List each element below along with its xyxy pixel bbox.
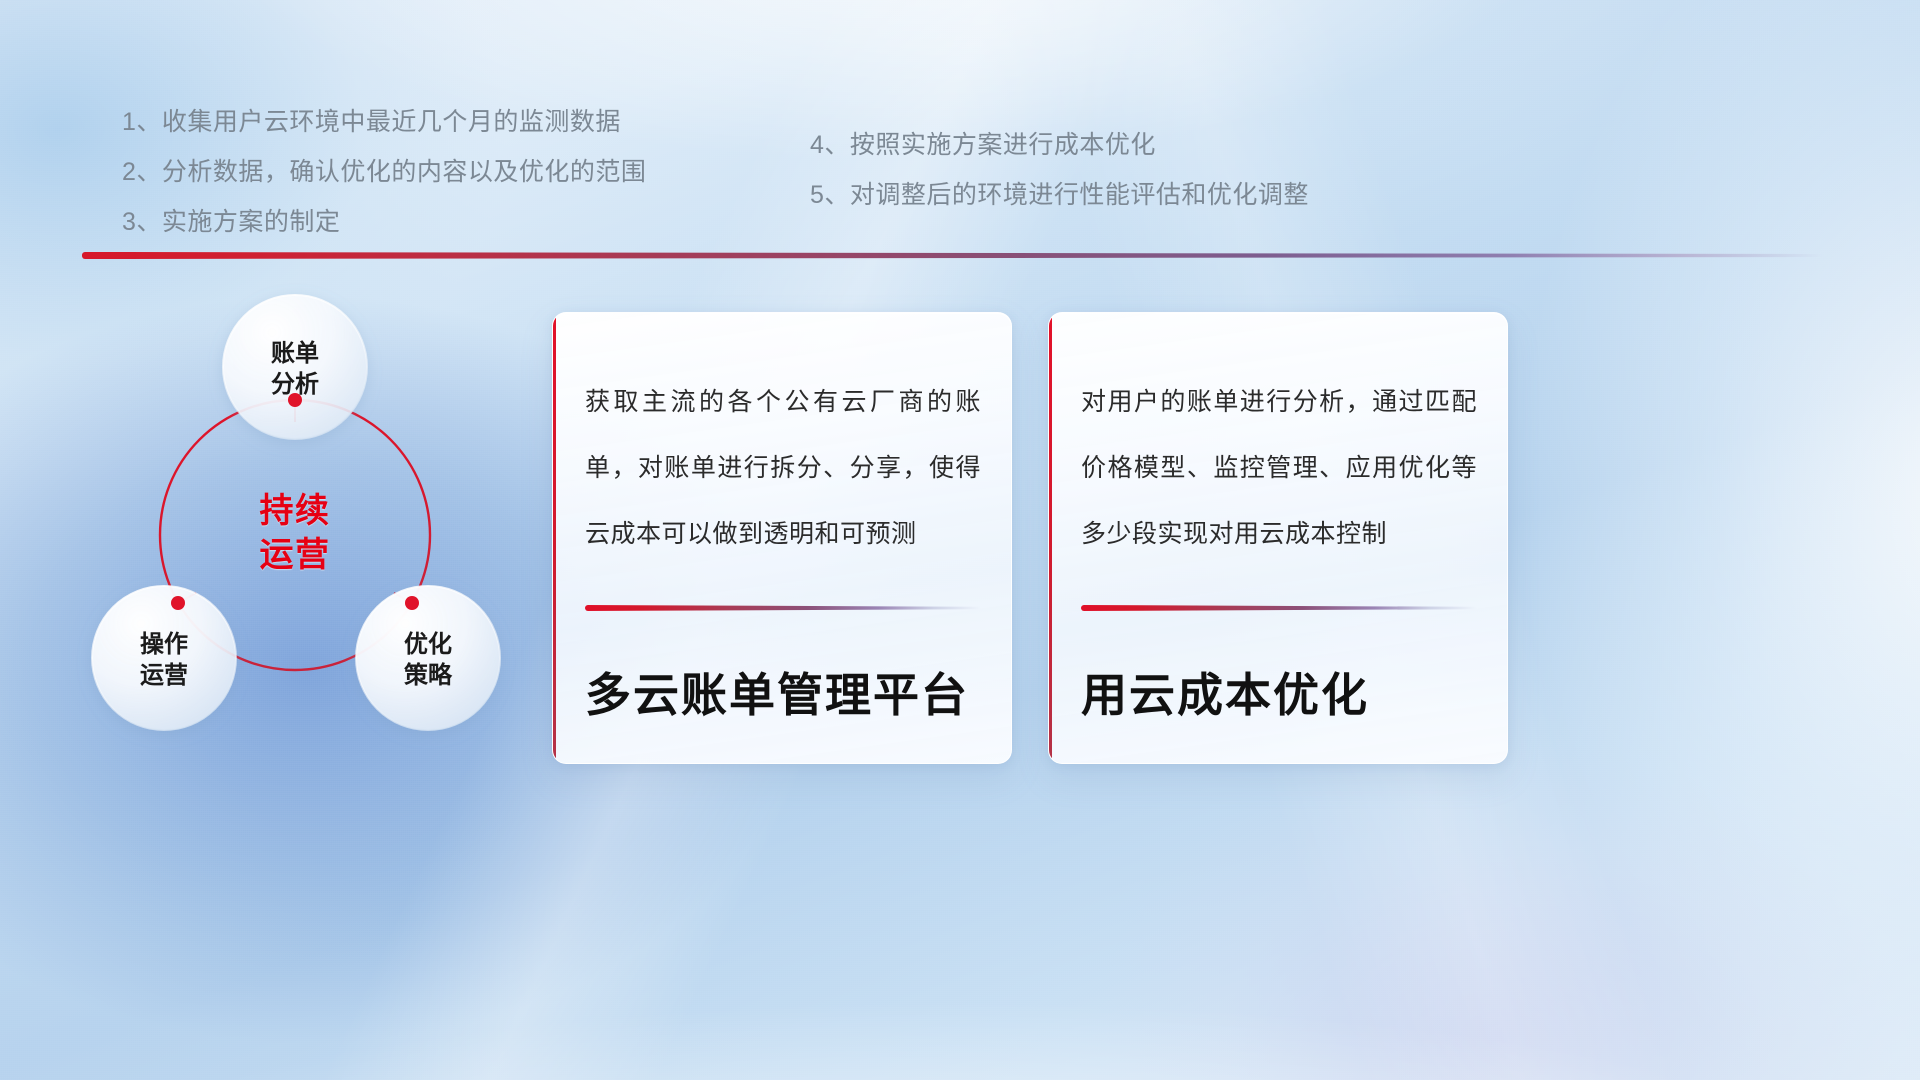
node-dot-top (288, 393, 302, 407)
card-accent-rule (585, 605, 981, 611)
step-item-2: 2、分析数据，确认优化的内容以及优化的范围 (122, 147, 646, 197)
slide-content: 1、收集用户云环境中最近几个月的监测数据 2、分析数据，确认优化的内容以及优化的… (0, 0, 1920, 1080)
node-dot-bottom-right (405, 596, 419, 610)
card-accent-rule (1081, 605, 1477, 611)
step-item-4: 4、按照实施方案进行成本优化 (810, 120, 1309, 170)
bubble-optimization-strategy (356, 586, 500, 730)
steps-right-column: 4、按照实施方案进行成本优化 5、对调整后的环境进行性能评估和优化调整 (810, 120, 1309, 220)
bubble-billing-analysis (223, 295, 367, 439)
steps-left-column: 1、收集用户云环境中最近几个月的监测数据 2、分析数据，确认优化的内容以及优化的… (122, 97, 646, 247)
bubble-operations (92, 586, 236, 730)
step-item-3: 3、实施方案的制定 (122, 197, 646, 247)
card-title: 多云账单管理平台 (585, 659, 987, 725)
card-body-text: 对用户的账单进行分析，通过匹配价格模型、监控管理、应用优化等多少段实现对用云成本… (1081, 369, 1477, 567)
step-item-5: 5、对调整后的环境进行性能评估和优化调整 (810, 170, 1309, 220)
node-dot-bottom-left (171, 596, 185, 610)
step-item-1: 1、收集用户云环境中最近几个月的监测数据 (122, 97, 646, 147)
card-multi-cloud-billing-platform[interactable]: 获取主流的各个公有云厂商的账单，对账单进行拆分、分享，使得云成本可以做到透明和可… (552, 312, 1012, 764)
continuous-operations-diagram: 账单 分析 操作 运营 优化 策略 持续 运营 (80, 290, 550, 770)
card-body-text: 获取主流的各个公有云厂商的账单，对账单进行拆分、分享，使得云成本可以做到透明和可… (585, 369, 981, 567)
section-divider-rule (82, 252, 1822, 259)
card-title: 用云成本优化 (1081, 659, 1483, 725)
card-cloud-cost-optimization[interactable]: 对用户的账单进行分析，通过匹配价格模型、监控管理、应用优化等多少段实现对用云成本… (1048, 312, 1508, 764)
